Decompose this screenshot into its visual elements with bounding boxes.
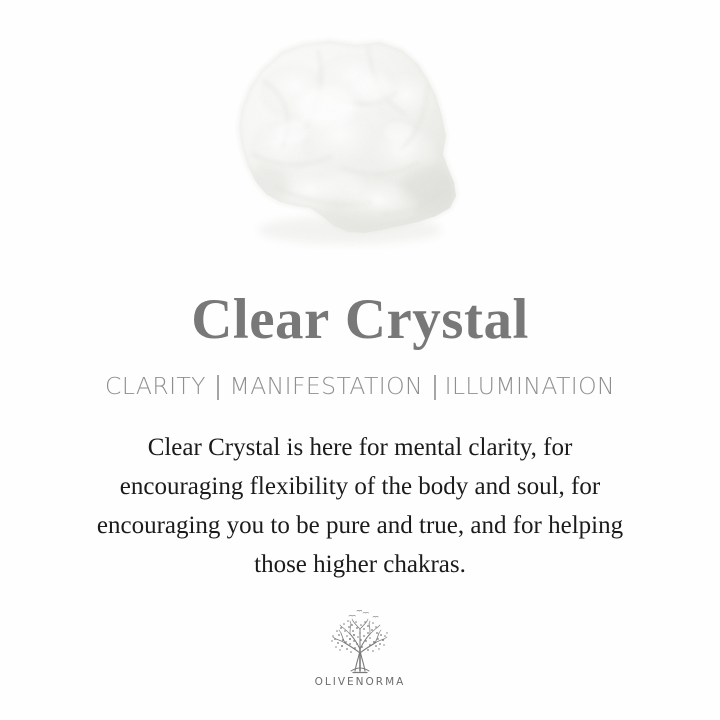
- description-line-4: those higher chakras.: [40, 545, 680, 584]
- brand-logo: OLIVENORMA: [315, 609, 406, 688]
- hero-image-area: [0, 0, 720, 288]
- title-word-2: Crystal: [345, 291, 529, 348]
- tree-of-life-icon: [321, 609, 399, 675]
- keyword-separator-1: [217, 375, 219, 400]
- description-text: Clear Crystal is here for mental clarity…: [40, 428, 680, 584]
- keyword-manifestation: MANIFESTATION: [230, 375, 424, 399]
- description-line-1: Clear Crystal is here for mental clarity…: [40, 428, 680, 467]
- raw-clear-quartz-crystal-illustration: [222, 36, 470, 260]
- crystal-image: [222, 36, 470, 260]
- keyword-clarity: CLARITY: [105, 375, 206, 399]
- title-word-1: Clear: [191, 291, 330, 348]
- description-line-2: encouraging flexibility of the body and …: [40, 467, 680, 506]
- keyword-line: CLARITY MANIFESTATION ILLUMINATION: [0, 374, 720, 399]
- description-line-3: encouraging you to be pure and true, and…: [40, 506, 680, 545]
- keyword-illumination: ILLUMINATION: [445, 375, 615, 399]
- brand-name: OLIVENORMA: [315, 677, 406, 688]
- product-info-card: Clear Crystal CLARITY MANIFESTATION ILLU…: [0, 0, 720, 720]
- page-title: Clear Crystal: [0, 288, 720, 350]
- keyword-separator-2: [434, 375, 436, 400]
